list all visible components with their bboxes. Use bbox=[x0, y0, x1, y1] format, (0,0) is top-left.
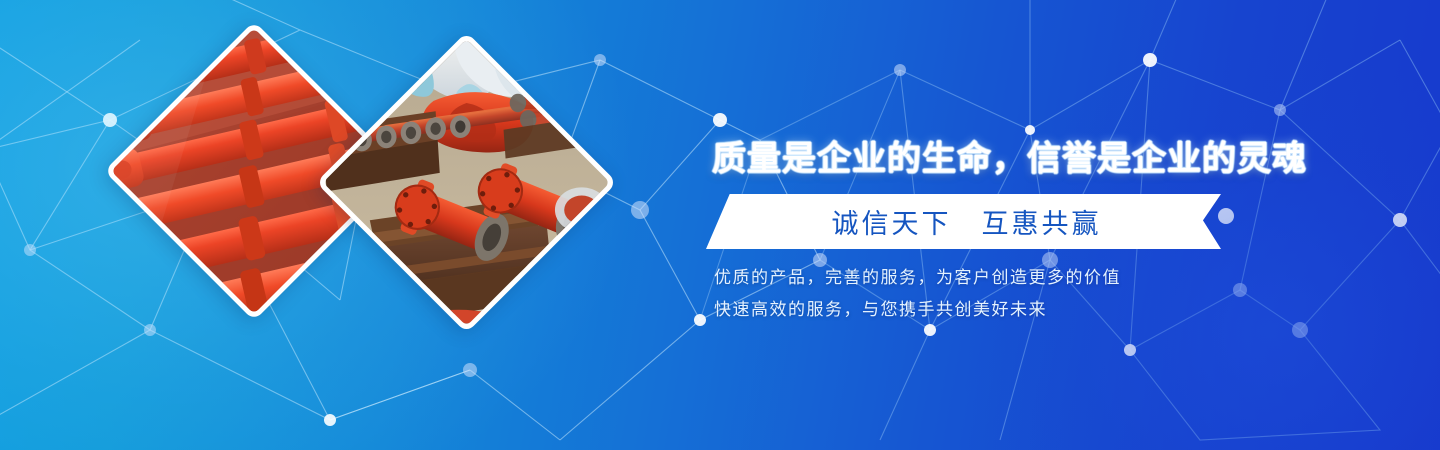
promotional-banner: .ln{stroke:#bfe4fb;stroke-width:1.1;opac… bbox=[0, 0, 1440, 450]
subtext-line-2: 快速高效的服务，与您携手共创美好未来 bbox=[714, 294, 1234, 326]
slogan-ribbon: 诚信天下 互惠共赢 bbox=[706, 194, 1221, 249]
page-title: 质量是企业的生命，信誉是企业的灵魂 bbox=[712, 139, 1257, 179]
subtext-block: 优质的产品，完善的服务，为客户创造更多的价值 快速高效的服务，与您携手共创美好未… bbox=[714, 262, 1234, 326]
ribbon-slogan-text: 诚信天下 互惠共赢 bbox=[706, 194, 1221, 249]
subtext-line-1: 优质的产品，完善的服务，为客户创造更多的价值 bbox=[714, 262, 1234, 294]
